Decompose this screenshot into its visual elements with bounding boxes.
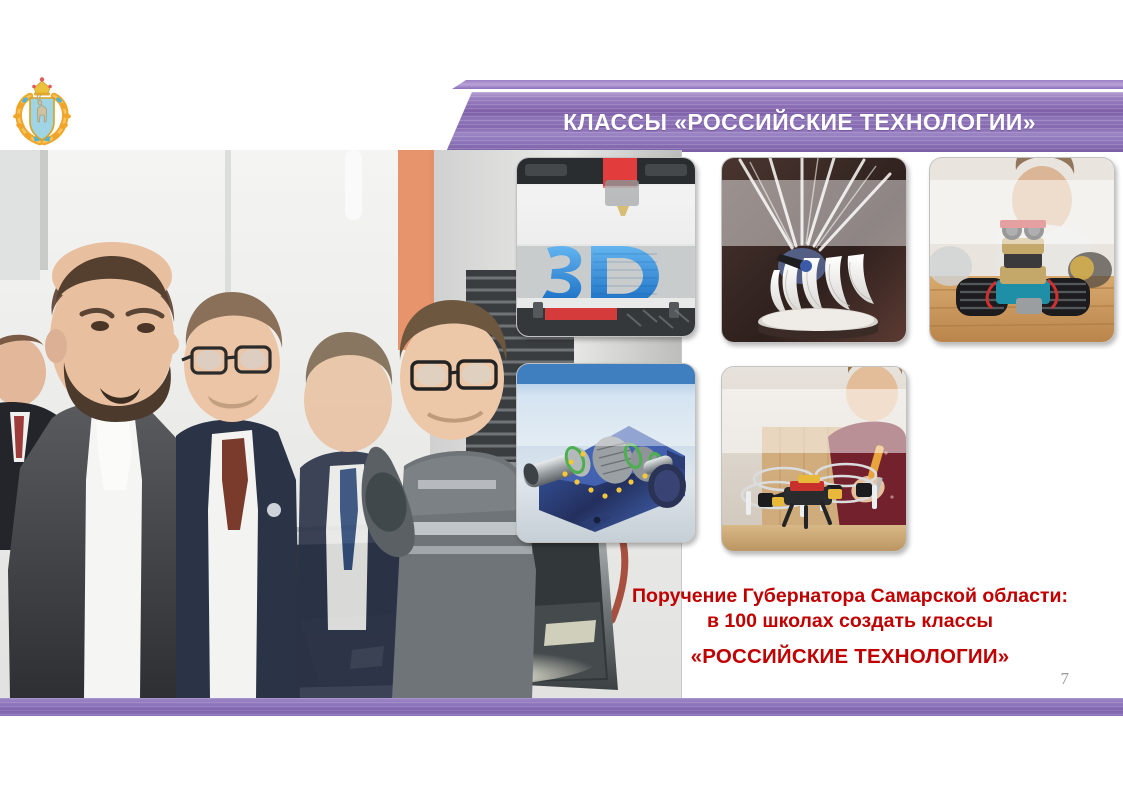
caption-block: Поручение Губернатора Самарской области:… [600, 584, 1100, 670]
banner-body: КЛАССЫ «РОССИЙСКИЕ ТЕХНОЛОГИИ» [446, 92, 1123, 152]
thumbnail-3d-printed-object[interactable] [721, 157, 907, 343]
caption-line-3: «РОССИЙСКИЕ ТЕХНОЛОГИИ» [600, 644, 1100, 671]
page-title: КЛАССЫ «РОССИЙСКИЕ ТЕХНОЛОГИИ» [533, 109, 1036, 136]
banner-top-stripe [452, 80, 1123, 89]
thumbnail-robot-kit[interactable] [929, 157, 1115, 343]
caption-line-1: Поручение Губернатора Самарской области: [600, 584, 1100, 609]
presentation-slide: КЛАССЫ «РОССИЙСКИЕ ТЕХНОЛОГИИ» [0, 0, 1123, 794]
caption-line-2: в 100 школах создать классы [600, 609, 1100, 634]
coat-of-arms-icon [8, 74, 76, 148]
thumbnail-3d-printer[interactable] [516, 157, 696, 337]
footer-bar [0, 698, 1123, 716]
page-number: 7 [1061, 669, 1070, 689]
thumbnail-cad-gearbox[interactable] [516, 363, 696, 543]
thumbnail-drone-assembly[interactable] [721, 366, 907, 552]
slide-title-banner: КЛАССЫ «РОССИЙСКИЕ ТЕХНОЛОГИИ» [446, 80, 1123, 152]
